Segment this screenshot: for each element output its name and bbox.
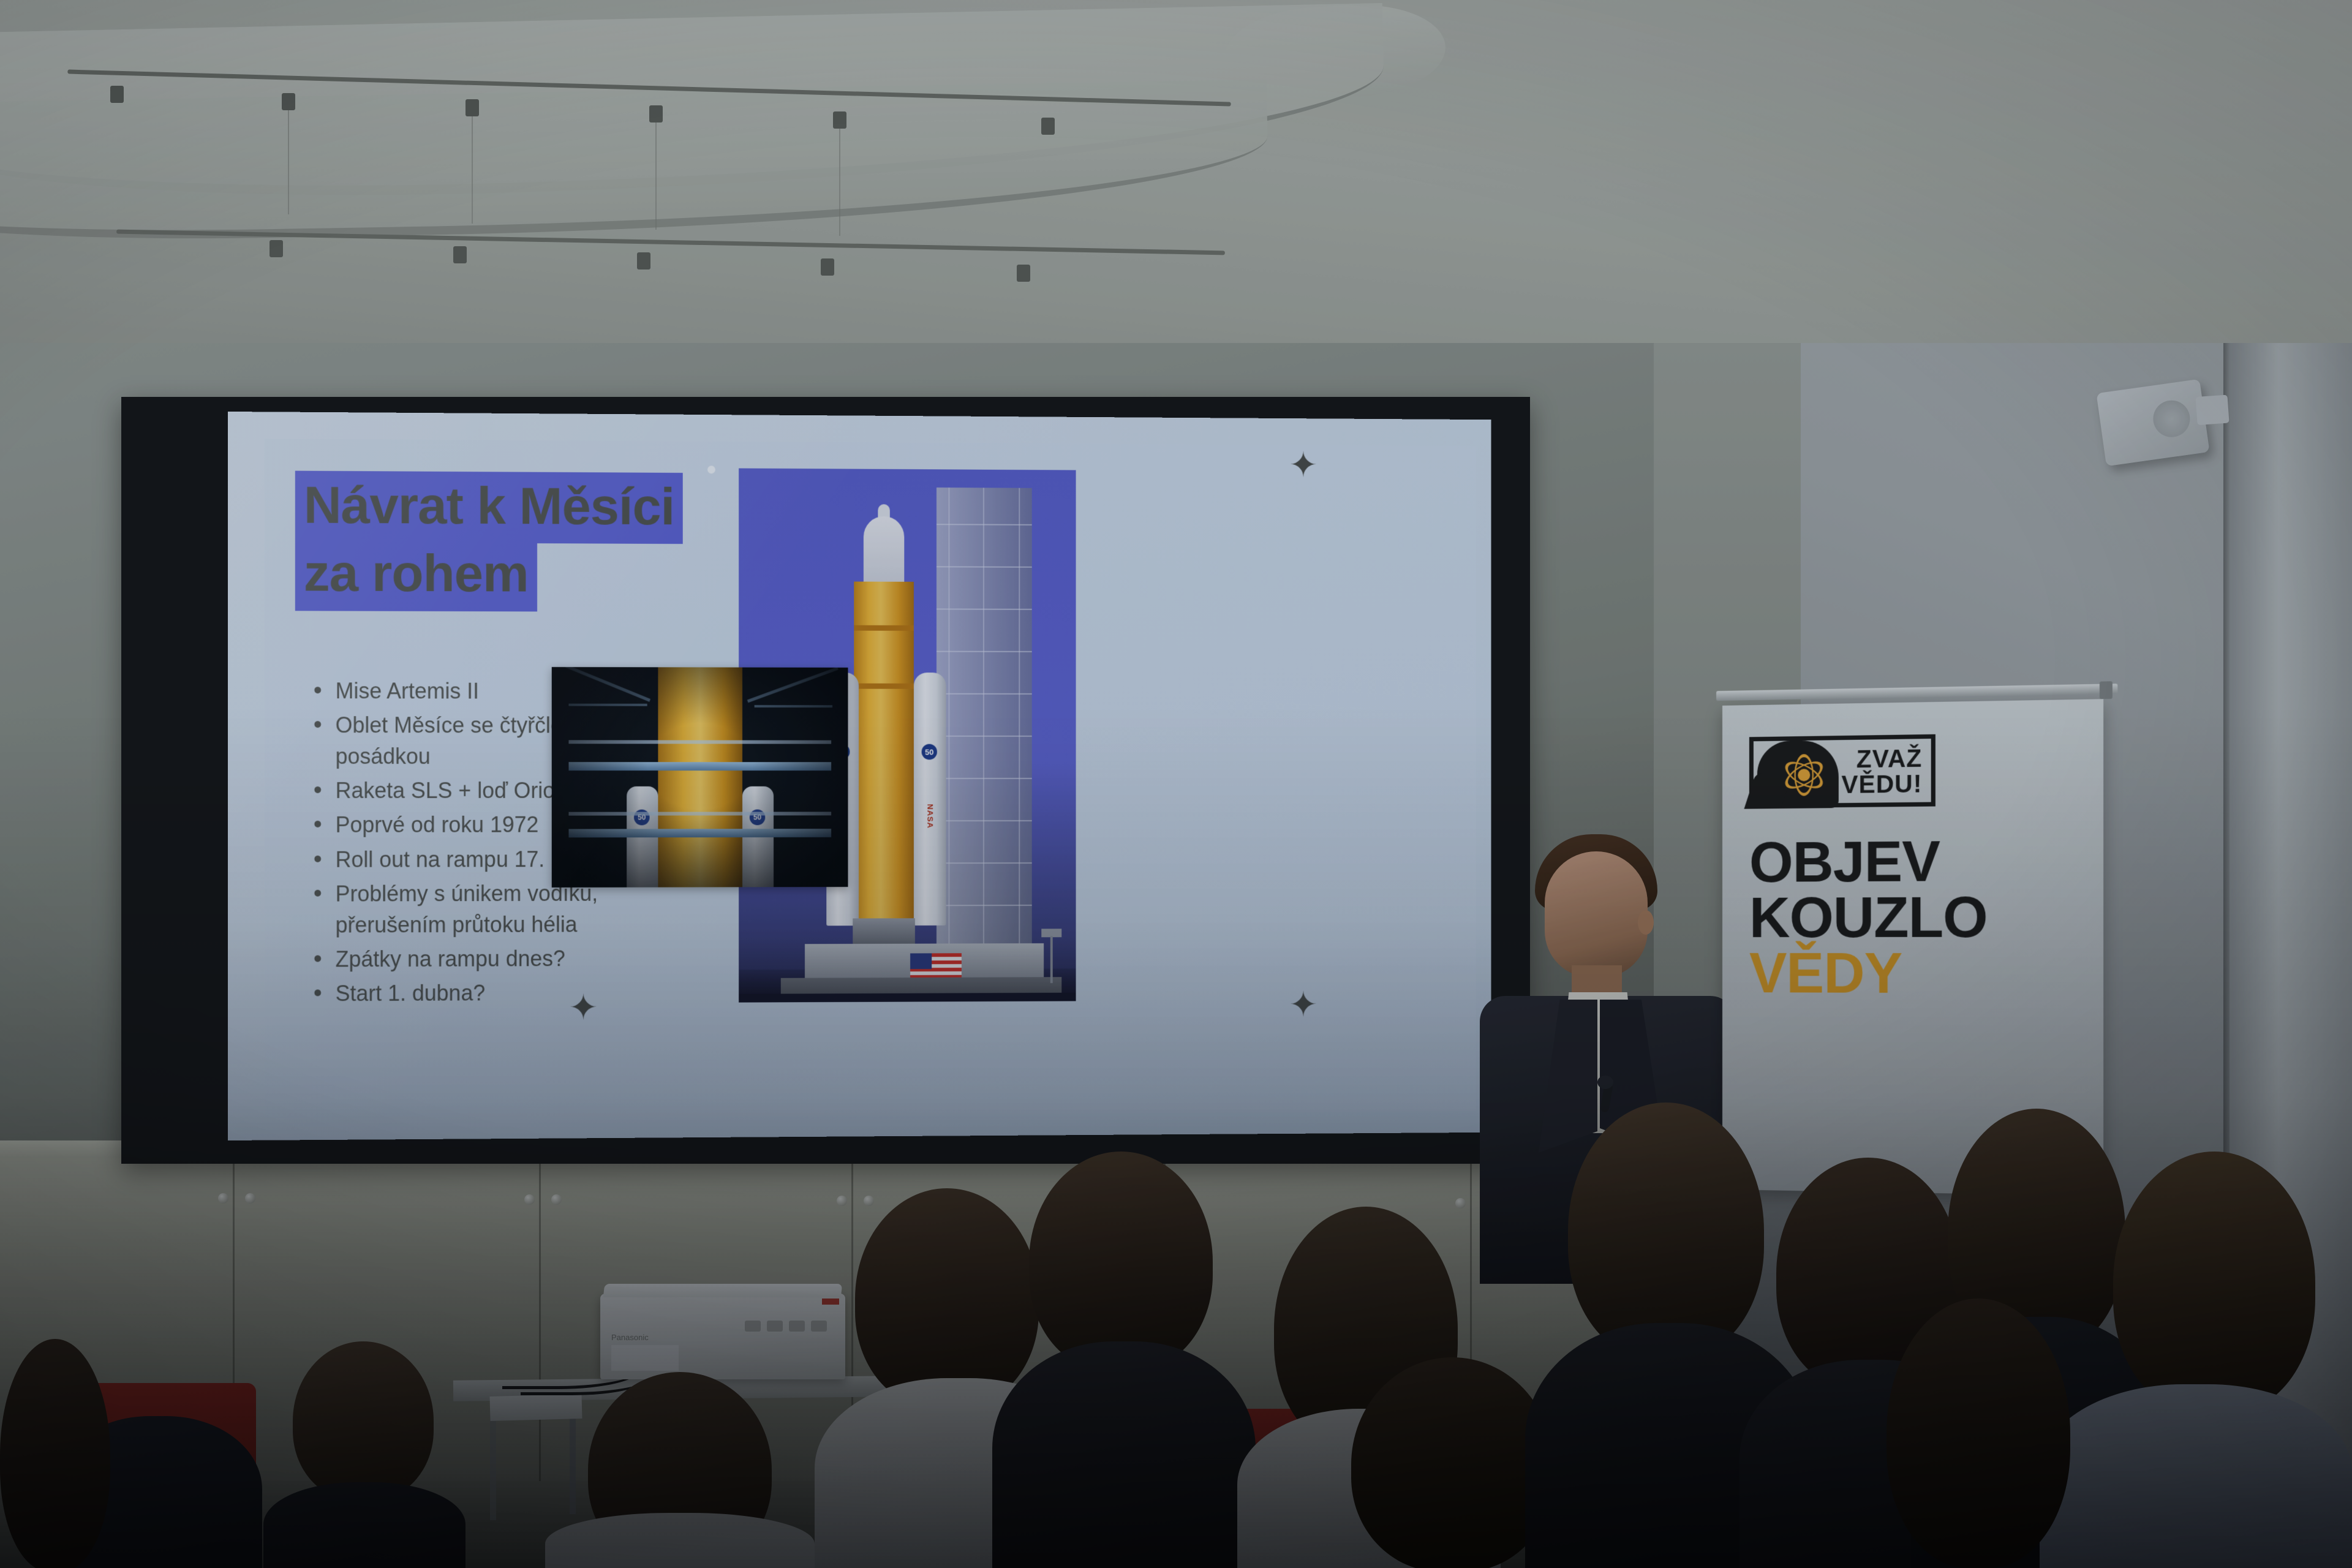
sls-core-stage (854, 582, 914, 921)
banner-headline-line-2: KOUZLO (1749, 889, 1988, 946)
cabinet-seam (539, 1163, 541, 1481)
rail-clip (269, 240, 283, 257)
banner-headline-line-3: VĚDY (1749, 946, 1988, 1002)
projector-port (767, 1321, 783, 1332)
lecture-hall-scene: Návrat k Měsíci za rohem ✦ ✦ ✦ Mise Arte… (0, 0, 2352, 1568)
booster-badge: 50 (922, 744, 937, 760)
microphone-capsule-icon (1597, 1076, 1613, 1089)
cabinet-knob[interactable] (837, 1196, 847, 1206)
rail-clip (110, 86, 124, 103)
cabinet-knob[interactable] (218, 1193, 228, 1204)
rail-clip (821, 258, 834, 276)
cabinet-knob[interactable] (245, 1193, 255, 1204)
floodlight-pole (1050, 936, 1053, 983)
audience-body (2040, 1384, 2352, 1568)
projector-port (789, 1321, 805, 1332)
slide-canvas: Návrat k Měsíci za rohem ✦ ✦ ✦ Mise Arte… (228, 412, 1491, 1140)
audience-head (1887, 1298, 2070, 1568)
projector-red-label (822, 1298, 839, 1305)
rail-clip (1041, 118, 1055, 135)
atom-icon (1779, 750, 1829, 800)
decor-dot (707, 466, 715, 473)
decor-sparkle-bottom-right: ✦ (1289, 987, 1317, 1022)
papers-on-table (490, 1394, 582, 1421)
cabinet-knob[interactable] (524, 1194, 535, 1205)
audience-head (2113, 1151, 2315, 1415)
rail-clip (282, 93, 295, 110)
rail-clip (466, 99, 479, 116)
ground-plane (739, 993, 1076, 1003)
projector-port (811, 1321, 827, 1332)
ceiling-wire (839, 129, 840, 236)
audience-head (0, 1339, 110, 1568)
solid-rocket-booster-right: 50 NASA (914, 673, 946, 925)
rail-clip (453, 246, 467, 263)
slide-image-sls-in-vab: 50 50 (552, 667, 848, 888)
audience-body (263, 1482, 466, 1568)
slide-title-line-1: Návrat k Měsíci (295, 471, 683, 545)
rail-clip (649, 105, 663, 123)
flag-canton (910, 953, 932, 969)
rail-clip (637, 252, 650, 269)
banner-rail-end-cap (2100, 681, 2113, 699)
vab-lighting-falloff (552, 667, 848, 888)
audience-head (1029, 1151, 1213, 1372)
projector: Panasonic (600, 1294, 845, 1379)
launch-tower (937, 488, 1032, 948)
ceiling-wire (288, 110, 289, 214)
projector-top-shell (603, 1284, 842, 1297)
speaker-cone-icon (2151, 398, 2193, 440)
slide-title-line-2: za rohem (295, 539, 537, 611)
booster-nasa-wordmark: NASA (925, 804, 935, 829)
ceiling-wire (655, 123, 657, 230)
audience-head (293, 1341, 434, 1501)
logo-wordmark: ZVAŽ VĚDU! (1841, 746, 1922, 797)
list-item: Zpátky na rampu dnes? (303, 943, 691, 975)
audience-head (855, 1188, 1039, 1409)
decor-sparkle-top-right: ✦ (1289, 447, 1317, 482)
rail-clip (1017, 265, 1030, 282)
audience-body (992, 1341, 1256, 1568)
audience-head (1351, 1357, 1553, 1568)
presenter-ear (1638, 910, 1654, 935)
audience-body (545, 1513, 815, 1568)
wall-speaker (2096, 379, 2209, 466)
presenter-head (1545, 851, 1648, 978)
rail-clip (833, 111, 846, 129)
banner-headline: OBJEV KOUZLO VĚDY (1749, 834, 1988, 1003)
logo-word-2: VĚDU! (1841, 772, 1922, 798)
projector-port (745, 1321, 761, 1332)
logo-word-1: ZVAŽ (1841, 746, 1922, 772)
orion-capsule (864, 516, 904, 589)
projector-brand-label: Panasonic (611, 1333, 649, 1342)
banner-headline-line-1: OBJEV (1749, 834, 1988, 891)
slide-title: Návrat k Měsíci za rohem (295, 471, 720, 612)
cabinet-knob[interactable] (551, 1194, 562, 1205)
ceiling-wire (472, 116, 473, 224)
cabinet-knob[interactable] (864, 1196, 874, 1206)
list-item: Start 1. dubna? (303, 976, 691, 1009)
projection-screen[interactable]: Návrat k Měsíci za rohem ✦ ✦ ✦ Mise Arte… (228, 412, 1491, 1140)
audience-head (1568, 1102, 1764, 1360)
projector-spec-sticker (611, 1345, 679, 1371)
fist-icon (1757, 740, 1839, 809)
zvaz-vedu-logo: ZVAŽ VĚDU! (1749, 734, 1936, 809)
